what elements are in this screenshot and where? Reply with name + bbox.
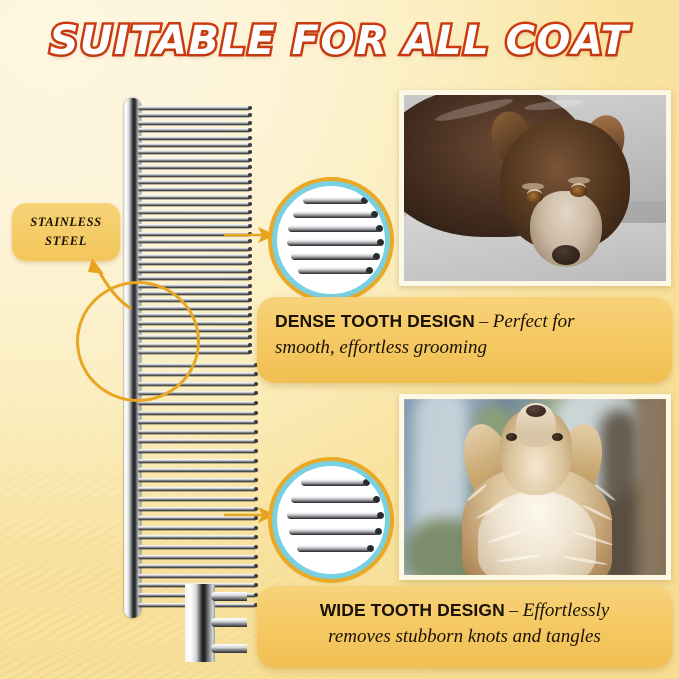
magnifier-pin [291, 253, 377, 260]
product-feature-poster: SUITABLE FOR ALL COAT STAINLESS STEEL [0, 0, 679, 679]
magnifier-pin [289, 528, 379, 535]
poster-title-container: SUITABLE FOR ALL COAT [0, 18, 679, 64]
spine-zoom-detail [185, 584, 247, 662]
photo-dog-couch [399, 90, 671, 286]
comb-tooth-dense [138, 165, 250, 169]
comb-tooth-dense [138, 113, 250, 117]
comb-tooth-dense [138, 269, 250, 273]
dog-eye-right [570, 185, 587, 197]
magnifier-pin [291, 496, 377, 503]
comb-tooth-wide [138, 507, 256, 511]
dog-brow-left [522, 183, 544, 190]
comb-tooth-wide [138, 430, 256, 434]
dog-eye-right [552, 433, 563, 441]
comb-tooth-dense [138, 210, 250, 214]
comb-tooth-wide [138, 439, 256, 443]
magnifier-pin [287, 239, 381, 246]
photo-dog-looking-up-content [404, 399, 666, 575]
spine-zoom-tooth [211, 644, 247, 653]
magnifier-pin [303, 197, 365, 204]
comb-tooth-dense [138, 239, 250, 243]
comb-tooth-dense [138, 173, 250, 177]
comb-tooth-wide [138, 468, 256, 472]
comb-tooth-wide [138, 478, 256, 482]
comb-tooth-dense [138, 187, 250, 191]
callout-dense-body-line2: smooth, effortless grooming [275, 337, 487, 358]
callout-wide-body-line2: removes stubborn knots and tangles [328, 626, 601, 647]
dense-tooth-magnifier [272, 181, 390, 299]
comb-tooth-wide [138, 487, 256, 491]
comb-tooth-dense [138, 106, 250, 110]
wide-tooth-magnifier [272, 461, 390, 579]
magnifier-pin [298, 267, 370, 274]
callout-dense-dash: – [479, 311, 488, 331]
comb-tooth-wide [138, 449, 256, 453]
magnifier-pin [301, 479, 367, 486]
comb-tooth-wide [138, 459, 256, 463]
magnifier-pin [297, 545, 371, 552]
comb-tooth-dense [138, 202, 250, 206]
comb-tooth-dense [138, 224, 250, 228]
dog-eye-left [506, 433, 517, 441]
magnifier-pin [288, 225, 380, 232]
comb-tooth-wide [138, 401, 256, 405]
callout-dense-body-line1: Perfect for [493, 311, 575, 332]
comb-tooth-dense [138, 232, 250, 236]
magnifier-pin [287, 512, 381, 519]
comb-tooth-wide [138, 574, 256, 578]
callout-wide-heading: WIDE TOOTH DESIGN [320, 600, 505, 620]
callout-wide-body-line1: Effortlessly [523, 600, 610, 621]
comb-tooth-dense [138, 158, 250, 162]
magnifier-pin [293, 211, 375, 218]
comb-tooth-wide [138, 526, 256, 530]
dog-nose [552, 245, 580, 265]
comb-tooth-dense [138, 150, 250, 154]
photo-dog-looking-up [399, 394, 671, 580]
photo-dog-couch-content [404, 95, 666, 281]
comb-tooth-dense [138, 128, 250, 132]
comb-tooth-dense [138, 143, 250, 147]
dog-eye-left [526, 191, 543, 203]
callout-dense-line2: smooth, effortless grooming [275, 335, 654, 361]
comb-tooth-wide [138, 516, 256, 520]
comb-tooth-dense [138, 180, 250, 184]
spine-zoom-tooth [211, 592, 247, 601]
stainless-steel-label: STAINLESS STEEL [12, 203, 120, 261]
callout-dense-heading: DENSE TOOTH DESIGN [275, 311, 475, 331]
bokeh-shape [638, 399, 666, 575]
stainless-steel-label-line1: STAINLESS [30, 213, 101, 232]
comb-tooth-dense [138, 136, 250, 140]
dog-nose [526, 405, 546, 417]
comb-tooth-dense [138, 121, 250, 125]
callout-dense-tooth: DENSE TOOTH DESIGN – Perfect for smooth,… [257, 297, 672, 383]
comb-tooth-wide [138, 411, 256, 415]
comb-tooth-wide [138, 555, 256, 559]
callout-wide-line2: removes stubborn knots and tangles [271, 624, 658, 650]
comb-tooth-dense [138, 276, 250, 280]
comb-tooth-dense [138, 254, 250, 258]
spine-highlight-oval [76, 281, 200, 402]
stainless-steel-label-line2: STEEL [45, 232, 87, 251]
comb-tooth-dense [138, 217, 250, 221]
comb-tooth-wide [138, 535, 256, 539]
comb-tooth-wide [138, 420, 256, 424]
callout-wide-tooth: WIDE TOOTH DESIGN – Effortlessly removes… [257, 586, 672, 668]
callout-dense-line1: DENSE TOOTH DESIGN – Perfect for [275, 309, 654, 335]
comb-tooth-dense [138, 247, 250, 251]
callout-wide-dash: – [509, 600, 518, 620]
page-title: SUITABLE FOR ALL COAT [50, 18, 630, 64]
dog-brow-right [568, 177, 590, 184]
comb-tooth-dense [138, 261, 250, 265]
comb-tooth-wide [138, 497, 256, 501]
comb-tooth-wide [138, 564, 256, 568]
comb-tooth-wide [138, 545, 256, 549]
callout-wide-line1: WIDE TOOTH DESIGN – Effortlessly [271, 598, 658, 624]
spine-zoom-tooth [211, 618, 247, 627]
comb-tooth-dense [138, 195, 250, 199]
